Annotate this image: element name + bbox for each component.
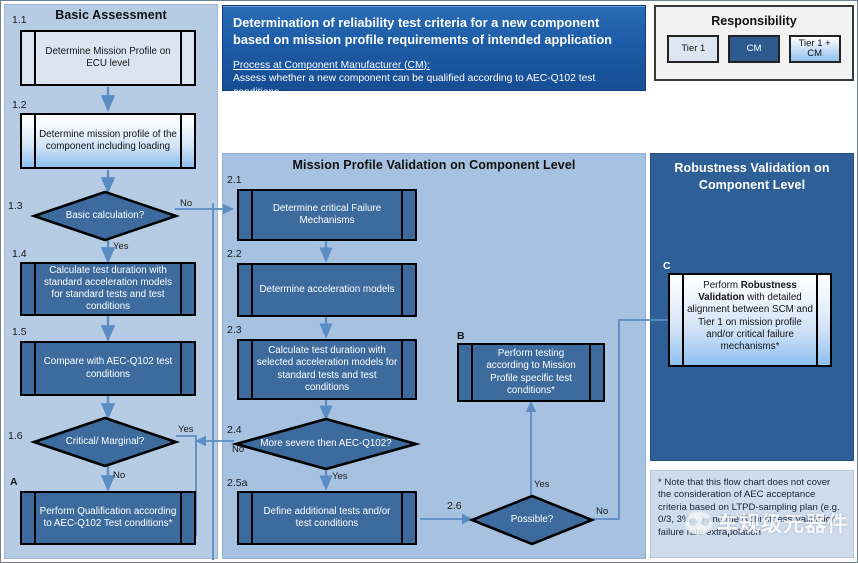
image-border [0,0,858,563]
flowchart-canvas: Basic Assessment Mission Profile Validat… [0,0,858,563]
